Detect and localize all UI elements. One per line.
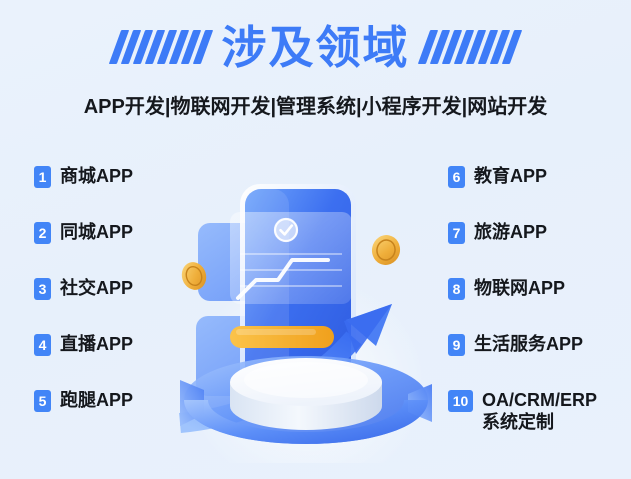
list-item[interactable]: 7旅游APP [448,221,631,277]
item-number-badge: 9 [448,334,465,356]
service-list-right: 6教育APP7旅游APP8物联网APP9生活服务APP10OA/CRM/ERP … [448,165,631,445]
item-number-badge: 4 [34,334,51,356]
mobile-growth-illustration [178,168,438,463]
list-item[interactable]: 8物联网APP [448,277,631,333]
item-label: 社交APP [60,277,133,299]
item-number-badge: 3 [34,278,51,300]
header: 涉及领域 APP开发|物联网开发|管理系统|小程序开发|网站开发 [0,0,631,119]
gold-coin-right [369,232,403,267]
item-number-badge: 7 [448,222,465,244]
pedestal-cylinder [230,358,382,430]
page-title: 涉及领域 [221,25,409,70]
item-label: 同城APP [60,221,133,243]
line-chart-card [230,212,352,304]
hatch-stripes-right-icon [424,30,516,64]
item-label: OA/CRM/ERP 系统定制 [482,389,597,433]
item-label: 物联网APP [474,277,565,299]
item-number-badge: 5 [34,390,51,412]
item-number-badge: 6 [448,166,465,188]
subtitle: APP开发|物联网开发|管理系统|小程序开发|网站开发 [0,90,631,119]
list-item[interactable]: 10OA/CRM/ERP 系统定制 [448,389,631,445]
item-number-badge: 8 [448,278,465,300]
item-label: 直播APP [60,333,133,355]
item-label: 商城APP [60,165,133,187]
item-label: 跑腿APP [60,389,133,411]
poster-root: 涉及领域 APP开发|物联网开发|管理系统|小程序开发|网站开发 1商城APP2… [0,0,631,479]
item-label: 旅游APP [474,221,547,243]
item-label: 教育APP [474,165,547,187]
item-number-badge: 1 [34,166,51,188]
list-item[interactable]: 9生活服务APP [448,333,631,389]
orange-pill-button [230,326,334,348]
item-number-badge: 10 [448,390,473,412]
checkmark-icon [275,219,297,241]
item-label: 生活服务APP [474,333,583,355]
list-item[interactable]: 6教育APP [448,165,631,221]
hatch-stripes-left-icon [115,30,207,64]
item-number-badge: 2 [34,222,51,244]
title-row: 涉及领域 [0,0,631,78]
